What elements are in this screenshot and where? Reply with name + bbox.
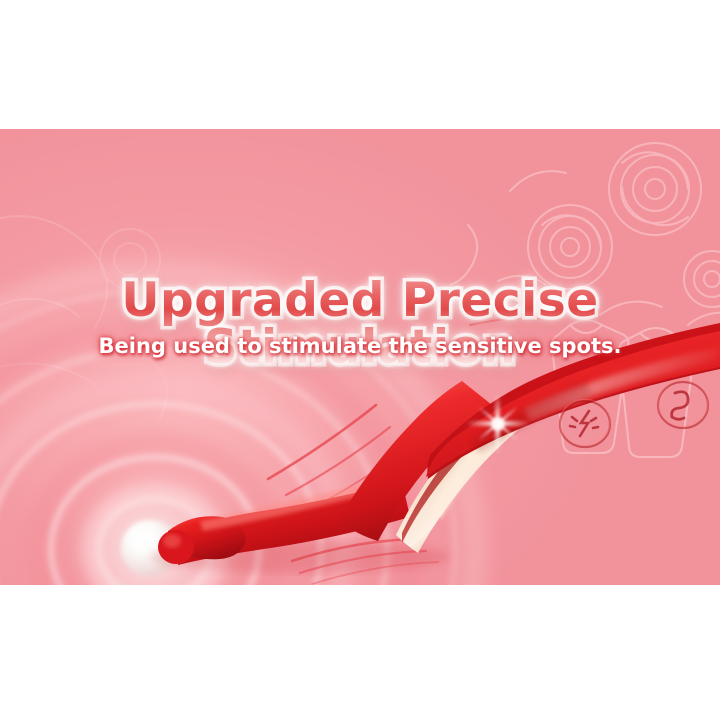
wave-s-icon — [672, 392, 688, 420]
pink-panel: Upgraded Precise Stimulation Upgraded Pr… — [0, 129, 720, 585]
page-subtitle: Being used to stimulate the sensitive sp… — [0, 334, 720, 358]
wave-button — [658, 381, 708, 429]
banner-image: Upgraded Precise Stimulation Upgraded Pr… — [0, 0, 720, 720]
